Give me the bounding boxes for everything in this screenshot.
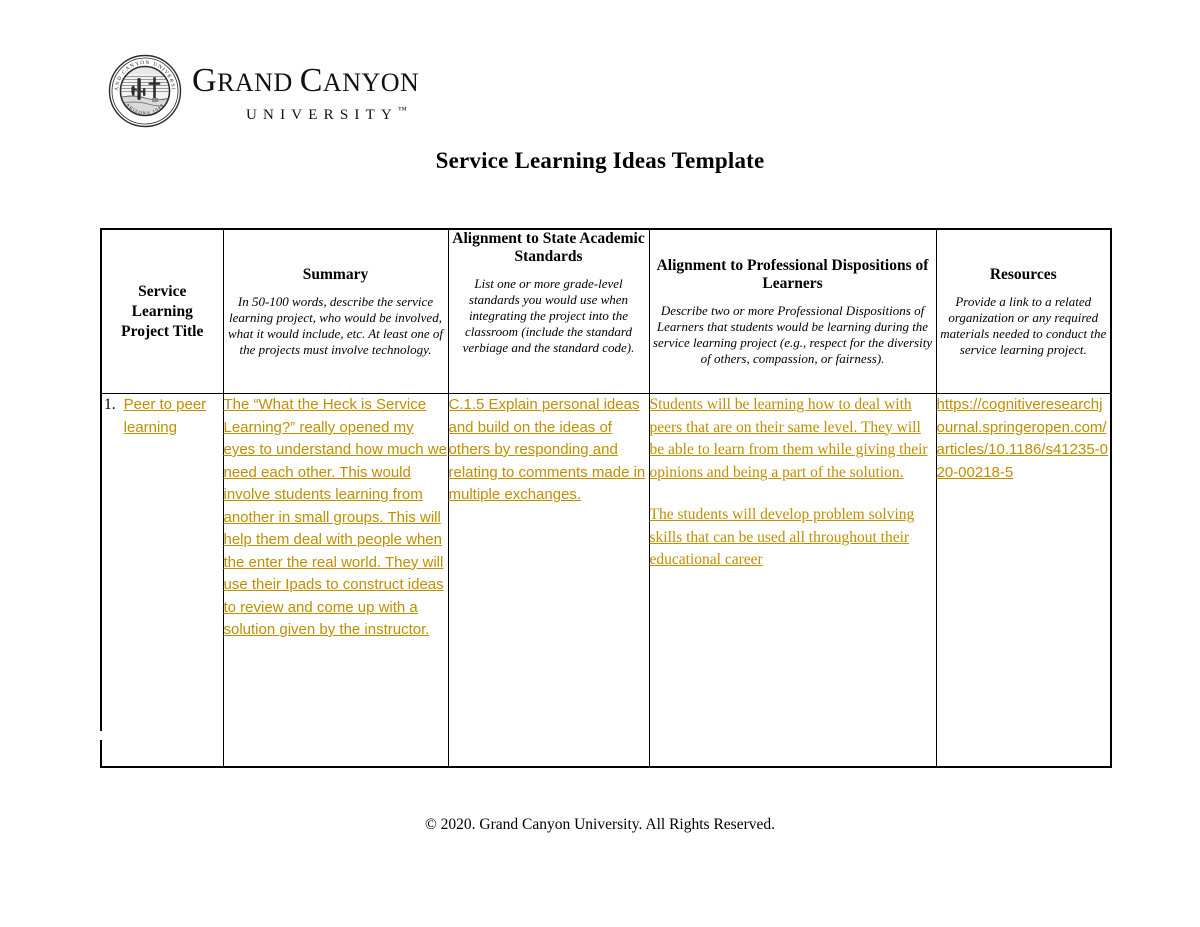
header-title-dispositions: Alignment to Professional Dispositions o… <box>650 257 936 293</box>
header-desc-dispositions: Describe two or more Professional Dispos… <box>650 303 936 367</box>
dispositions-value-paragraph-1[interactable]: Students will be learning how to deal wi… <box>650 394 936 484</box>
copyright-footer: © 2020. Grand Canyon University. All Rig… <box>0 816 1200 834</box>
wordmark-anyon: ANYON <box>323 68 419 97</box>
wordmark-line-1: GRAND CANYON <box>192 63 419 101</box>
wordmark-rand: RAND <box>217 68 300 97</box>
header-cell-project-title: Service Learning Project Title <box>101 229 223 394</box>
header-title-line-3: Project Title <box>102 322 223 342</box>
service-learning-table-wrapper: Service Learning Project Title Summary I… <box>100 228 1110 768</box>
header-cell-dispositions: Alignment to Professional Dispositions o… <box>649 229 936 394</box>
table-row: 1. Peer to peer learning The “What the H… <box>101 394 1111 768</box>
wordmark-university: UNIVERSITY <box>246 107 398 123</box>
cell-dispositions[interactable]: Students will be learning how to deal wi… <box>649 394 936 768</box>
cell-resources[interactable]: https://cognitiveresearchjournal.springe… <box>936 394 1111 768</box>
header-title-state-standards: Alignment to State Academic Standards <box>449 230 649 266</box>
state-standards-value[interactable]: C.1.5 Explain personal ideas and build o… <box>449 394 649 507</box>
list-number: 1. <box>102 394 116 417</box>
university-seal-icon: GRAND CANYON UNIVERSITY ARIZONA 1949 <box>108 54 182 128</box>
header-title-resources: Resources <box>937 266 1111 284</box>
numbered-item: 1. Peer to peer learning <box>102 394 223 439</box>
summary-value[interactable]: The “What the Heck is Service Learning?”… <box>224 394 448 642</box>
header-desc-resources: Provide a link to a related organization… <box>937 294 1111 358</box>
header-cell-state-standards: Alignment to State Academic Standards Li… <box>448 229 649 394</box>
cell-state-standards[interactable]: C.1.5 Explain personal ideas and build o… <box>448 394 649 768</box>
service-learning-ideas-table: Service Learning Project Title Summary I… <box>100 228 1112 768</box>
header-desc-state-standards: List one or more grade-level standards y… <box>449 276 649 356</box>
header-cell-resources: Resources Provide a link to a related or… <box>936 229 1111 394</box>
header-title-project-title: Service Learning Project Title <box>102 282 223 342</box>
wordmark-g: G <box>192 62 217 99</box>
wordmark-line-2: UNIVERSITY™ <box>192 101 419 124</box>
page-title: Service Learning Ideas Template <box>0 148 1200 174</box>
resource-link[interactable]: https://cognitiveresearchjournal.springe… <box>937 394 1111 484</box>
cell-project-title[interactable]: 1. Peer to peer learning <box>101 394 223 768</box>
header-desc-summary: In 50-100 words, describe the service le… <box>224 294 448 358</box>
gcu-logo: GRAND CANYON UNIVERSITY ARIZONA 1949 GRA… <box>108 54 419 128</box>
trademark-symbol: ™ <box>398 105 407 115</box>
dispositions-value-paragraph-2[interactable]: The students will develop problem solvin… <box>650 504 936 572</box>
cell-summary[interactable]: The “What the Heck is Service Learning?”… <box>223 394 448 768</box>
table-header-row: Service Learning Project Title Summary I… <box>101 229 1111 394</box>
document-page: GRAND CANYON UNIVERSITY ARIZONA 1949 GRA… <box>0 0 1200 927</box>
header-title-line-1: Service <box>102 282 223 302</box>
header-title-line-2: Learning <box>102 302 223 322</box>
gcu-wordmark: GRAND CANYON UNIVERSITY™ <box>192 59 419 124</box>
header-cell-summary: Summary In 50-100 words, describe the se… <box>223 229 448 394</box>
wordmark-c: C <box>300 62 323 99</box>
header-title-summary: Summary <box>224 266 448 284</box>
project-title-value[interactable]: Peer to peer learning <box>124 394 223 439</box>
border-artifact <box>99 731 103 740</box>
